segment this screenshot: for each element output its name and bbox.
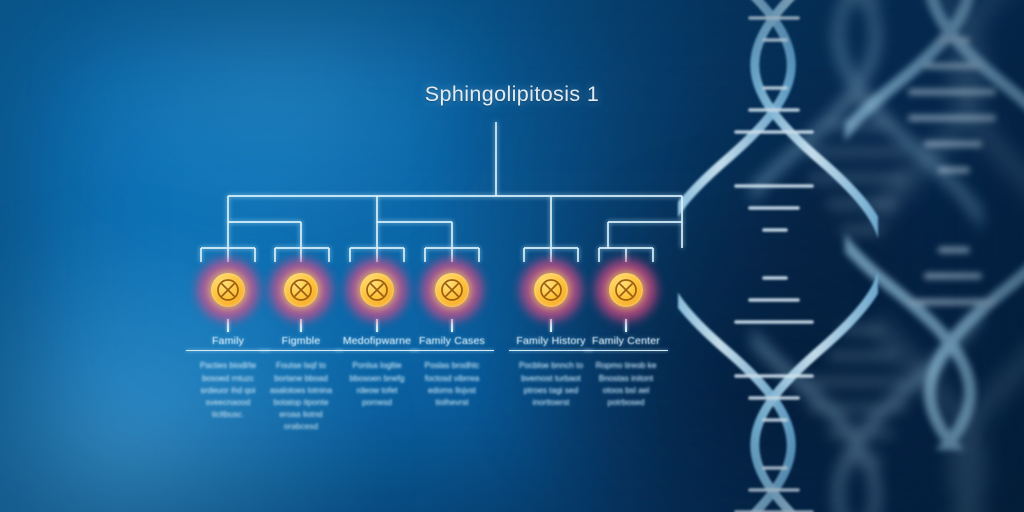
crossed-circle-icon: [534, 273, 568, 307]
node-underline: [584, 350, 668, 351]
tree-connector-lines: [0, 0, 1024, 512]
tree-node[interactable]: Family Center Ropmo tireob keBnostas ini…: [565, 266, 687, 408]
infographic-canvas: Sphingolipitosis 1 Family Pacties biodl/…: [0, 0, 1024, 512]
node-underline: [410, 350, 494, 351]
crossed-circle-icon: [435, 273, 469, 307]
node-label: Family Center: [565, 335, 687, 347]
crossed-circle-icon: [284, 273, 318, 307]
crossed-circle-icon: [609, 273, 643, 307]
page-title: Sphingolipitosis 1: [0, 82, 1024, 107]
node-icon-wrap: [602, 266, 650, 314]
crossed-circle-icon: [360, 273, 394, 307]
node-icon-wrap: [428, 266, 476, 314]
node-body-text: Ropmo tireob keBnostas initontotoos bsl …: [565, 359, 687, 408]
